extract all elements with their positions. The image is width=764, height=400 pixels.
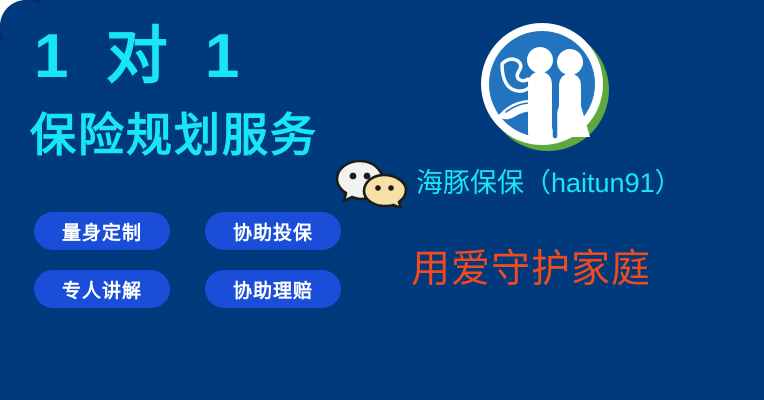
feature-pill-custom[interactable]: 量身定制 bbox=[34, 212, 170, 250]
feature-pill-claims[interactable]: 协助理赔 bbox=[205, 270, 341, 308]
headline-primary: 1 对 1 bbox=[34, 26, 249, 88]
wechat-id-text: 海豚保保（haitun91） bbox=[416, 170, 682, 197]
headline-secondary: 保险规划服务 bbox=[30, 112, 318, 158]
wechat-contact-row[interactable]: 海豚保保（haitun91） bbox=[336, 158, 682, 208]
feature-pill-apply[interactable]: 协助投保 bbox=[205, 212, 341, 250]
feature-pill-group: 量身定制 协助投保 专人讲解 协助理赔 bbox=[34, 212, 341, 308]
insurance-promo-banner: 1 对 1 保险规划服务 量身定制 协助投保 专人讲解 协助理赔 bbox=[0, 0, 764, 400]
wechat-icon bbox=[336, 158, 410, 208]
feature-pill-expert[interactable]: 专人讲解 bbox=[34, 270, 170, 308]
slogan-text: 用爱守护家庭 bbox=[411, 250, 651, 289]
globe-family-dolphin-logo-icon bbox=[478, 20, 612, 154]
